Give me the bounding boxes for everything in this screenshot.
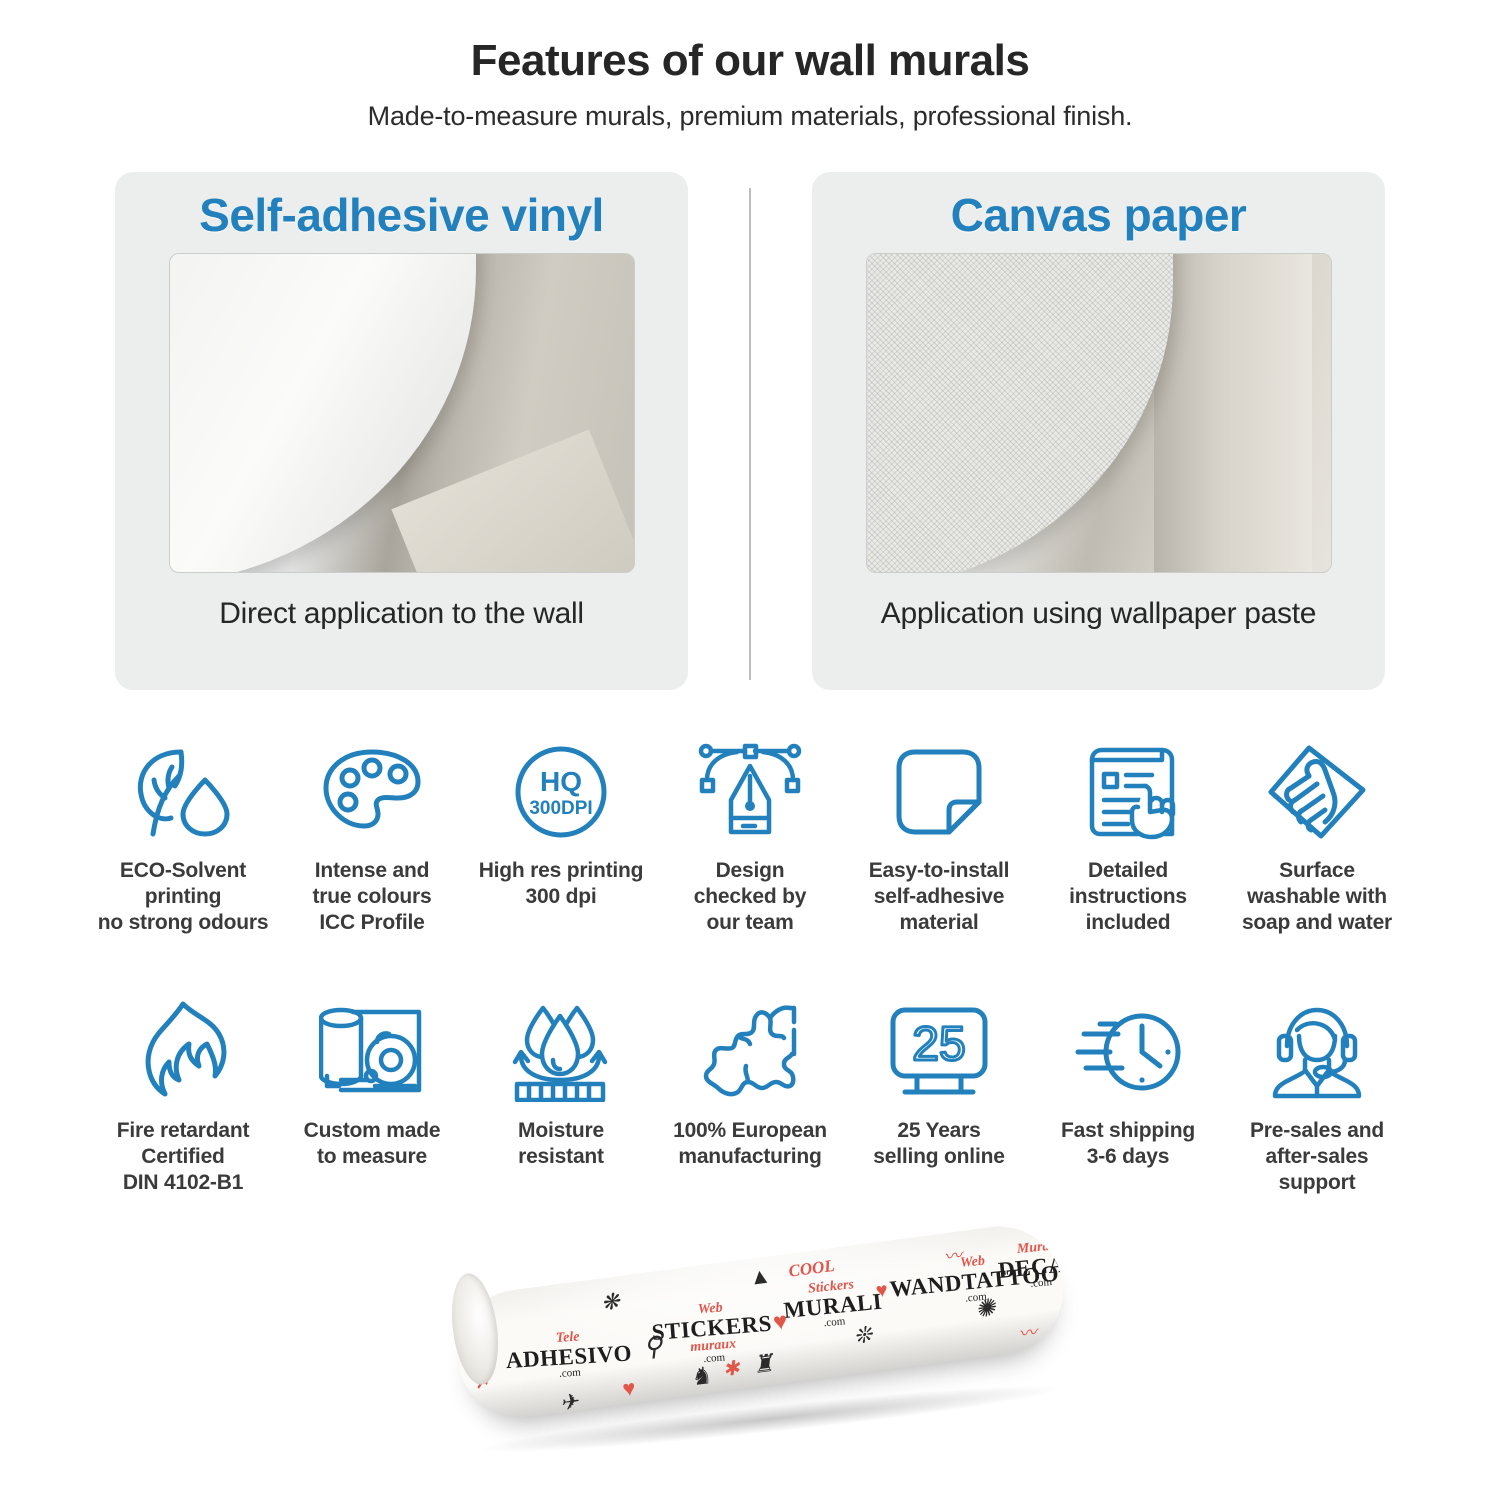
card-caption-canvas: Application using wallpaper paste (881, 595, 1316, 633)
feature-label: Detailed instructions included (1069, 858, 1187, 936)
feature-design-checked[interactable]: Design checked by our team (657, 738, 843, 936)
card-canvas-paper[interactable]: Canvas paper Application using wallpaper… (812, 172, 1385, 690)
feature-eco-solvent[interactable]: ECO-Solvent printing no strong odours (90, 738, 276, 936)
feature-detailed-instructions[interactable]: Detailed instructions included (1035, 738, 1221, 936)
feature-fire-retardant[interactable]: Fire retardant Certified DIN 4102-B1 (90, 998, 276, 1196)
page-title: Features of our wall murals (0, 36, 1500, 87)
doodle-building-1: ▲ (747, 1262, 772, 1291)
doodle-bird-1: ✈ (558, 1389, 580, 1417)
feature-label: 100% European manufacturing (673, 1118, 827, 1170)
feature-fast-shipping[interactable]: Fast shipping 3-6 days (1035, 998, 1221, 1196)
page-subtitle: Made-to-measure murals, premium material… (0, 101, 1500, 132)
feature-label: Design checked by our team (694, 858, 806, 936)
vinyl-photo (169, 253, 635, 573)
feature-label: Surface washable with soap and water (1242, 858, 1392, 936)
svg-text:HQ: HQ (540, 766, 582, 797)
feature-label: Moisture resistant (518, 1118, 604, 1170)
flame-icon (137, 998, 229, 1106)
tube-brand-teleadhesivo: Tele ADHESIVO .com (504, 1327, 633, 1383)
doodle-heart-4: ♥ (875, 1279, 890, 1303)
water-droplets-repel-icon (507, 998, 615, 1106)
doodle-text-cool: COOL (787, 1256, 835, 1282)
document-pointing-hand-icon (1078, 738, 1178, 846)
paint-palette-icon (320, 738, 424, 846)
doodle-figure-1: ♞ (688, 1361, 713, 1393)
card-title-vinyl: Self-adhesive vinyl (199, 188, 604, 243)
roll-measuring-tape-icon (319, 998, 425, 1106)
monitor-25-icon: 25 (887, 998, 991, 1106)
canvas-photo-roll (1154, 253, 1312, 573)
feature-label: Fast shipping 3-6 days (1061, 1118, 1195, 1170)
feature-row-1: ECO-Solvent printing no strong odours In… (90, 738, 1410, 936)
feature-label: Fire retardant Certified DIN 4102-B1 (117, 1118, 250, 1196)
europe-map-icon (698, 998, 802, 1106)
svg-text:300DPI: 300DPI (529, 798, 592, 819)
feature-easy-install[interactable]: Easy-to-install self-adhesive material (846, 738, 1032, 936)
doodle-dandelion-1: ❊ (852, 1322, 874, 1350)
feature-true-colours[interactable]: Intense and true colours ICC Profile (279, 738, 465, 936)
doodle-splash-1: ❋ (600, 1288, 622, 1316)
doodle-heart-2: ♥ (621, 1375, 637, 1402)
hand-wiping-cloth-icon (1265, 738, 1369, 846)
feature-label: ECO-Solvent printing no strong odours (98, 858, 269, 936)
feature-label: 25 Years selling online (873, 1118, 1004, 1170)
feature-label: Custom made to measure (304, 1118, 441, 1170)
feature-high-res[interactable]: HQ 300DPI High res printing 300 dpi (468, 738, 654, 936)
feature-moisture-resistant[interactable]: Moisture resistant (468, 998, 654, 1196)
material-cards: Self-adhesive vinyl Direct application t… (115, 172, 1385, 690)
doodle-scribble-1: 〰 (942, 1241, 963, 1269)
feature-grid: ECO-Solvent printing no strong odours In… (90, 738, 1410, 1196)
doodle-palm-1: ✺ (973, 1293, 997, 1324)
canvas-photo (866, 253, 1332, 573)
feature-custom-made[interactable]: Custom made to measure (279, 998, 465, 1196)
leaf-droplet-icon (131, 738, 235, 846)
feature-label: High res printing 300 dpi (479, 858, 644, 910)
tube-brand-muralsdecal: Murals DECAL .com (996, 1237, 1071, 1293)
infographic-page: Features of our wall murals Made-to-meas… (0, 0, 1500, 1500)
feature-support[interactable]: Pre-sales and after-sales support (1224, 998, 1410, 1196)
card-self-adhesive-vinyl[interactable]: Self-adhesive vinyl Direct application t… (115, 172, 688, 690)
feature-label: Pre-sales and after-sales support (1250, 1118, 1384, 1196)
feature-label: Intense and true colours ICC Profile (313, 858, 432, 936)
page-header: Features of our wall murals Made-to-meas… (0, 0, 1500, 132)
doodle-star-1: ✱ (721, 1355, 741, 1382)
doodle-lamp-1: ⚲ (641, 1331, 664, 1363)
doodle-scribble-2: 〰 (1017, 1318, 1038, 1346)
peel-corner-sticker-icon (891, 738, 987, 846)
feature-25-years[interactable]: 25 25 Years selling online (846, 998, 1032, 1196)
cards-divider (749, 188, 751, 680)
feature-row-2: Fire retardant Certified DIN 4102-B1 (90, 998, 1410, 1196)
fast-clock-icon (1074, 998, 1182, 1106)
feature-label: Easy-to-install self-adhesive material (869, 858, 1010, 936)
shipping-tube-section: Tele ADHESIVO .com Web STICKERS muraux .… (0, 1230, 1500, 1460)
card-caption-vinyl: Direct application to the wall (219, 595, 584, 633)
pen-tool-bezier-icon (697, 738, 803, 846)
svg-text:25: 25 (912, 1018, 965, 1071)
card-title-canvas: Canvas paper (951, 188, 1247, 243)
headset-agent-icon (1267, 998, 1367, 1106)
hq-300dpi-badge-icon: HQ 300DPI (511, 738, 611, 846)
feature-european-manufacturing[interactable]: 100% European manufacturing (657, 998, 843, 1196)
feature-washable[interactable]: Surface washable with soap and water (1224, 738, 1410, 936)
doodle-figure-2: ♜ (751, 1349, 776, 1381)
